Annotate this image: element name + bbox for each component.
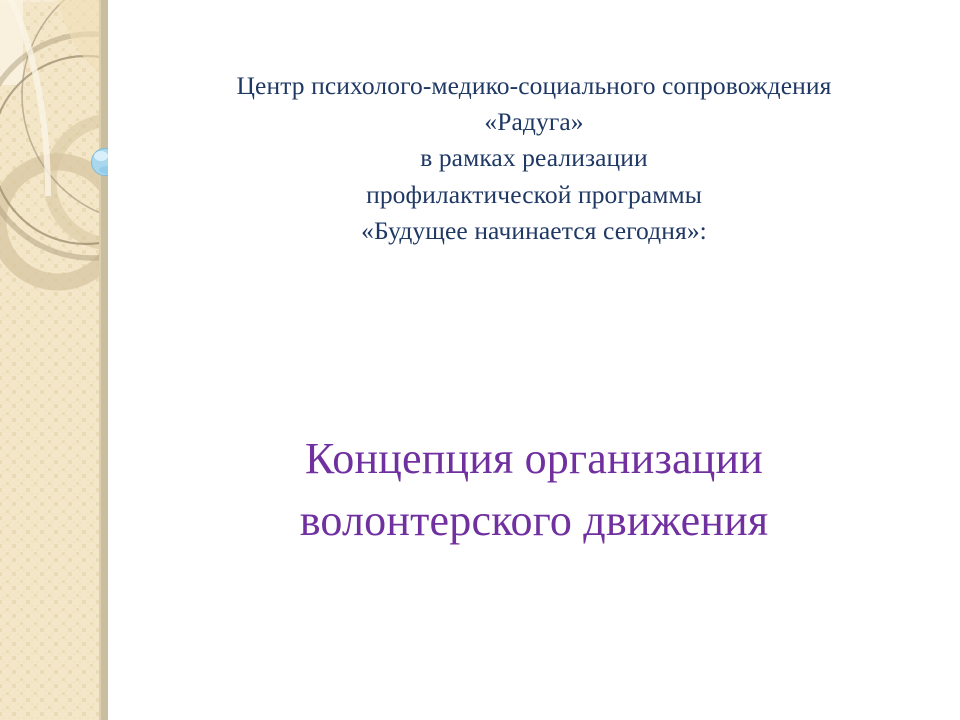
sidebar-decoration-graphic (0, 0, 108, 720)
sidebar-decoration (0, 0, 108, 720)
sidebar-edge-band (101, 0, 108, 720)
header-line-3: в рамках реализации (120, 140, 948, 176)
main-title-line-2: волонтерского движения (120, 490, 948, 552)
sidebar-edge-band-inner (99, 0, 101, 720)
header-line-4: профилактической программы (120, 177, 948, 213)
presentation-slide: Центр психолого-медико-социального сопро… (0, 0, 960, 720)
header-line-5: «Будущее начинается сегодня»: (120, 213, 948, 249)
main-title: Концепция организации волонтерского движ… (120, 428, 948, 552)
sidebar-panel-background (0, 0, 101, 720)
header-line-2: «Радуга» (120, 104, 948, 140)
main-title-line-1: Концепция организации (120, 428, 948, 490)
header-text-block: Центр психолого-медико-социального сопро… (120, 68, 948, 249)
header-line-1: Центр психолого-медико-социального сопро… (120, 68, 948, 104)
